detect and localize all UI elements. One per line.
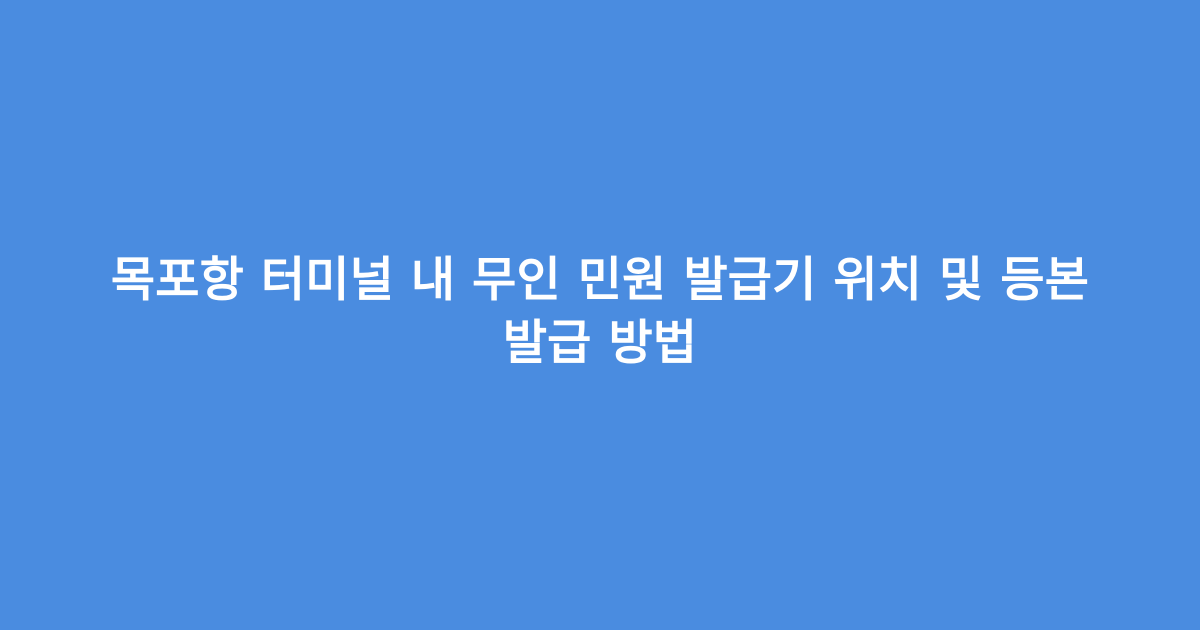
- page-title: 목포항 터미널 내 무인 민원 발급기 위치 및 등본 발급 방법: [60, 249, 1140, 375]
- title-block: 목포항 터미널 내 무인 민원 발급기 위치 및 등본 발급 방법: [0, 249, 1200, 375]
- banner-canvas: 목포항 터미널 내 무인 민원 발급기 위치 및 등본 발급 방법: [0, 0, 1200, 630]
